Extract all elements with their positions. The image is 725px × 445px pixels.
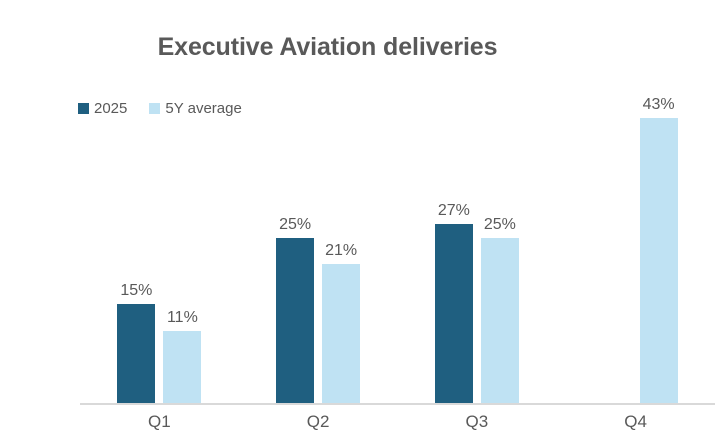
bar-slot-q4-series-1: 43% [640,110,678,404]
bar-chart: Executive Aviation deliveries 2025 5Y av… [0,0,725,445]
x-axis-label-q4: Q4 [576,412,696,432]
bar-value-label: 11% [147,309,217,327]
bar-group-q3: 27%25% [435,110,519,404]
x-axis-label-q2: Q2 [258,412,378,432]
bar-value-label: 21% [306,242,376,260]
x-axis-label-q3: Q3 [417,412,537,432]
plot-area: 15%11%25%21%27%25%43% [80,110,715,404]
bar-value-label: 15% [101,282,171,300]
bar-value-label: 25% [465,216,535,234]
bar-q3-5y-average[interactable] [481,238,519,404]
bar-slot-q1-series-1: 11% [163,110,201,404]
x-axis-label-q1: Q1 [99,412,219,432]
bar-q1-5y-average[interactable] [163,331,201,404]
bar-slot-q3-series-0: 27% [435,110,473,404]
bar-slot-q3-series-1: 25% [481,110,519,404]
bar-slot-q1-series-0: 15% [117,110,155,404]
bar-q3-2025[interactable] [435,224,473,404]
chart-title: Executive Aviation deliveries [0,33,655,62]
bar-q2-2025[interactable] [276,238,314,404]
bar-slot-q2-series-1: 21% [322,110,360,404]
bar-group-q1: 15%11% [117,110,201,404]
x-axis-line [80,403,715,405]
bar-q4-5y-average[interactable] [640,118,678,404]
bar-group-q2: 25%21% [276,110,360,404]
bar-slot-q4-series-0 [594,110,632,404]
bar-q2-5y-average[interactable] [322,264,360,404]
bar-group-q4: 43% [594,110,678,404]
bar-value-label: 25% [260,216,330,234]
bar-value-label: 43% [624,96,694,114]
x-axis-labels: Q1Q2Q3Q4 [80,412,715,442]
